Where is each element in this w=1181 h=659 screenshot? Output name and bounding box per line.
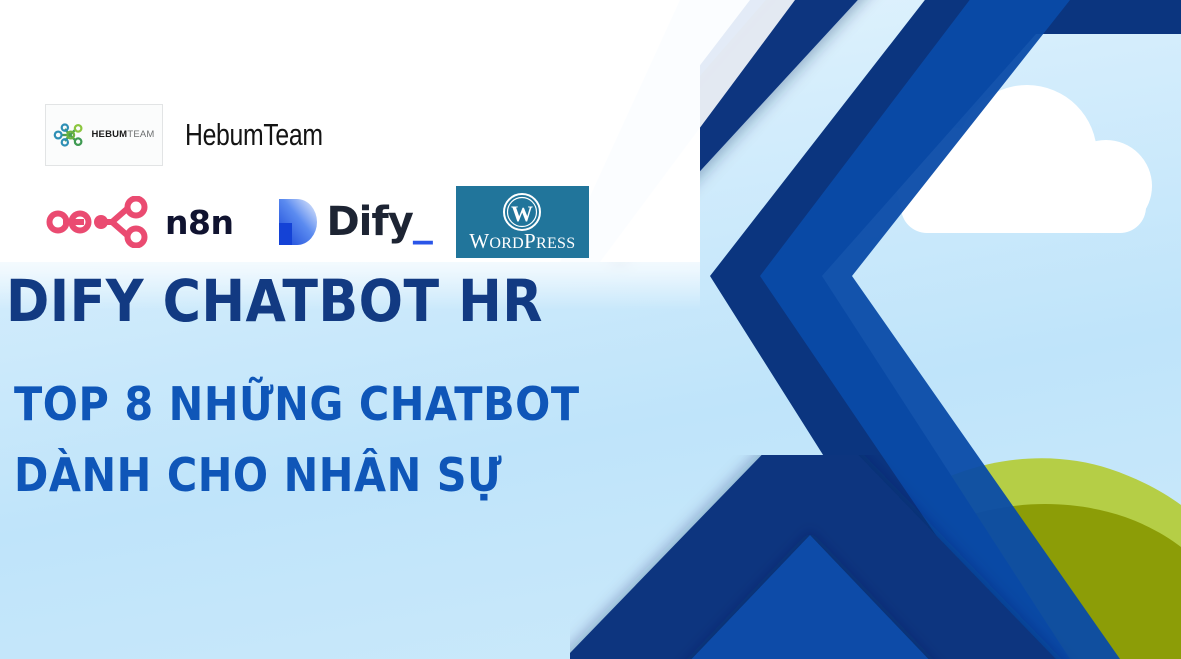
brand-name: HebumTeam xyxy=(185,117,323,153)
dify-label-accent: _ xyxy=(413,199,432,245)
hebumteam-wordmark-bold: HEBUM xyxy=(91,129,127,140)
n8n-nodes-icon xyxy=(46,196,156,248)
hebumteam-wordmark-light: TEAM xyxy=(127,129,154,140)
wordpress-label: WORDPRESS xyxy=(469,231,575,252)
wordpress-label-w: W xyxy=(469,229,489,253)
subtitle-line-2: DÀNH CHO NHÂN SỰ xyxy=(14,452,502,498)
wordpress-label-ord: ORD xyxy=(489,235,524,252)
white-diagonal-wedge xyxy=(560,0,820,300)
wordpress-w-icon: W xyxy=(502,192,542,232)
wordpress-logo: W WORDPRESS xyxy=(456,186,589,258)
svg-text:W: W xyxy=(511,201,533,226)
subtitle-line-1: TOP 8 NHỮNG CHATBOT xyxy=(14,381,580,427)
hebumteam-logo-box: HEBUMTEAM xyxy=(45,104,163,166)
thumbnail-canvas: HEBUMTEAM HebumTeam n8n xyxy=(0,0,1181,659)
hebumteam-logo-row: HEBUMTEAM HebumTeam xyxy=(45,104,357,166)
wordpress-label-ress: RESS xyxy=(536,235,575,252)
tool-logo-row: n8n Dify_ W xyxy=(46,186,589,258)
dify-label-text: Dify xyxy=(326,199,412,245)
n8n-logo: n8n xyxy=(46,196,233,248)
wordpress-label-p: P xyxy=(524,229,536,253)
hebumteam-wordmark: HEBUMTEAM xyxy=(91,130,154,140)
page-title: DIFY CHATBOT HR xyxy=(6,272,543,330)
n8n-label: n8n xyxy=(165,206,233,239)
hebumteam-node-graph-icon xyxy=(53,122,87,148)
dify-logo: Dify_ xyxy=(277,197,431,247)
nested-chevron-up xyxy=(570,455,1181,659)
dify-label: Dify_ xyxy=(326,202,431,242)
dify-d-icon xyxy=(277,197,319,247)
